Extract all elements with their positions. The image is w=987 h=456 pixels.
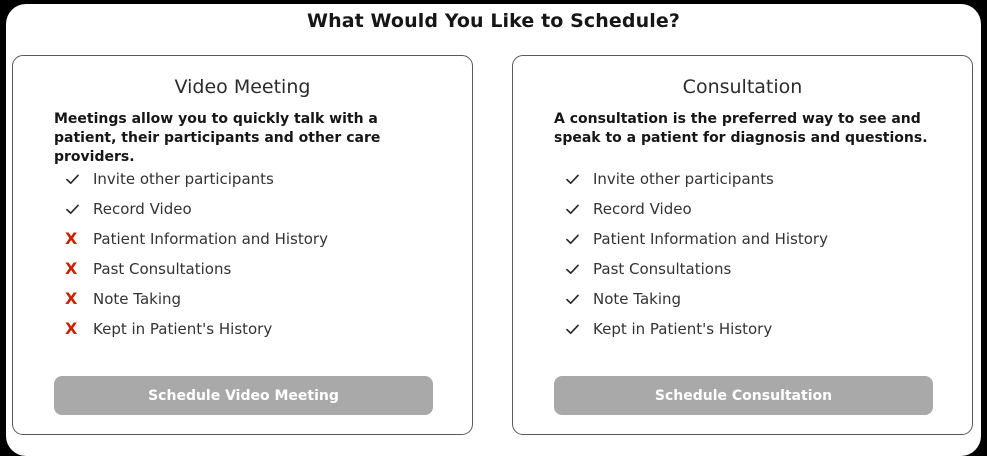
dialog-surface: What Would You Like to Schedule? Video M… xyxy=(6,4,981,456)
feature-item: Past Consultations xyxy=(565,254,935,284)
card-description: A consultation is the preferred way to s… xyxy=(554,110,939,148)
cross-icon: X xyxy=(65,231,93,247)
feature-item: XPatient Information and History xyxy=(65,224,435,254)
feature-item: Kept in Patient's History xyxy=(565,314,935,344)
feature-item: Patient Information and History xyxy=(565,224,935,254)
feature-label: Patient Information and History xyxy=(593,230,828,248)
check-icon xyxy=(565,262,593,277)
check-icon xyxy=(565,232,593,247)
feature-label: Past Consultations xyxy=(593,260,731,278)
page-title: What Would You Like to Schedule? xyxy=(6,10,981,32)
feature-label: Patient Information and History xyxy=(93,230,328,248)
feature-item: Note Taking xyxy=(565,284,935,314)
feature-label: Kept in Patient's History xyxy=(593,320,772,338)
feature-label: Past Consultations xyxy=(93,260,231,278)
option-card-consultation[interactable]: Consultation A consultation is the prefe… xyxy=(512,55,973,435)
feature-item: XPast Consultations xyxy=(65,254,435,284)
feature-label: Invite other participants xyxy=(593,170,774,188)
check-icon xyxy=(565,322,593,337)
schedule-video-meeting-button[interactable]: Schedule Video Meeting xyxy=(54,376,433,415)
feature-label: Note Taking xyxy=(593,290,681,308)
feature-item: Record Video xyxy=(565,194,935,224)
feature-item: Invite other participants xyxy=(565,164,935,194)
feature-label: Record Video xyxy=(593,200,692,218)
check-icon xyxy=(565,172,593,187)
cross-icon: X xyxy=(65,321,93,337)
feature-list: Invite other participantsRecord VideoXPa… xyxy=(65,164,435,344)
feature-label: Note Taking xyxy=(93,290,181,308)
feature-label: Kept in Patient's History xyxy=(93,320,272,338)
card-title: Consultation xyxy=(513,76,972,98)
card-description: Meetings allow you to quickly talk with … xyxy=(54,110,439,167)
check-icon xyxy=(65,172,93,187)
check-icon xyxy=(65,202,93,217)
feature-list: Invite other participantsRecord VideoPat… xyxy=(565,164,935,344)
feature-item: XKept in Patient's History xyxy=(65,314,435,344)
cross-icon: X xyxy=(65,261,93,277)
option-card-video-meeting[interactable]: Video Meeting Meetings allow you to quic… xyxy=(12,55,473,435)
cross-icon: X xyxy=(65,291,93,307)
feature-item: XNote Taking xyxy=(65,284,435,314)
feature-label: Record Video xyxy=(93,200,192,218)
check-icon xyxy=(565,202,593,217)
check-icon xyxy=(565,292,593,307)
card-title: Video Meeting xyxy=(13,76,472,98)
feature-item: Record Video xyxy=(65,194,435,224)
feature-label: Invite other participants xyxy=(93,170,274,188)
schedule-consultation-button[interactable]: Schedule Consultation xyxy=(554,376,933,415)
feature-item: Invite other participants xyxy=(65,164,435,194)
